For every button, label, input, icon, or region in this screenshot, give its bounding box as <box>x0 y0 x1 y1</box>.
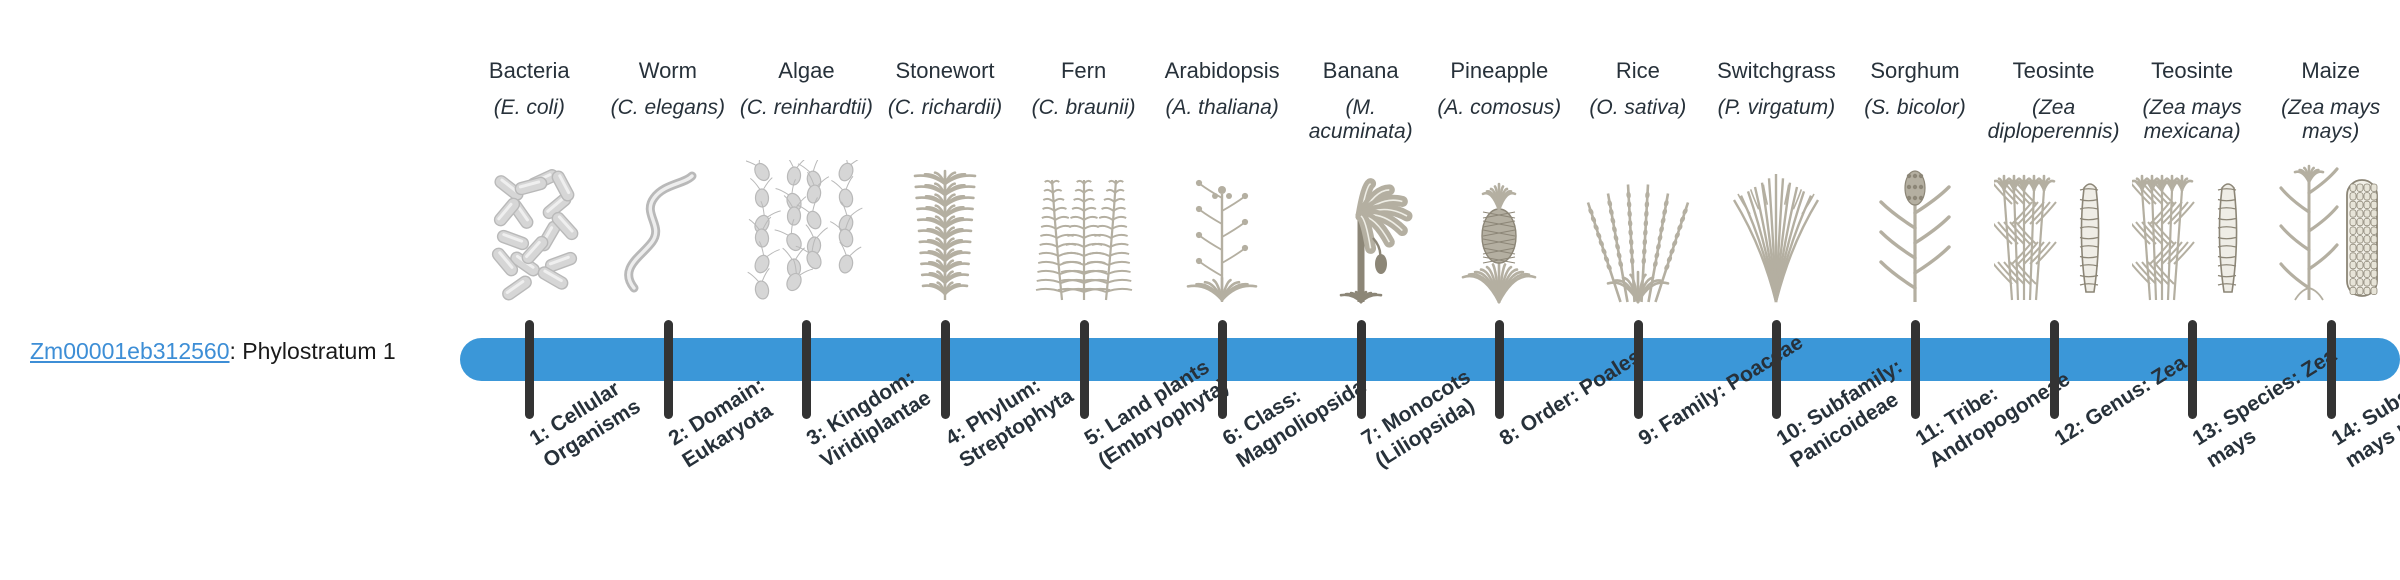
rice-plant-icon <box>1569 160 1707 305</box>
species-scientific-name: (A. thaliana) <box>1153 96 1291 120</box>
banana-plant-icon <box>1292 160 1430 305</box>
species-common-name: Worm <box>599 58 737 83</box>
species-common-name: Algae <box>737 58 875 83</box>
species-common-name: Sorghum <box>1846 58 1984 83</box>
species-scientific-name: (Zea mays mays) <box>2262 96 2400 143</box>
fern-frond-icon <box>1015 160 1153 305</box>
species-scientific-name: (S. bicolor) <box>1846 96 1984 120</box>
species-common-name: Maize <box>2262 58 2400 83</box>
species-scientific-name: (C. elegans) <box>599 96 737 120</box>
teosinte-plant-ear-icon <box>2123 160 2261 305</box>
species-scientific-name: (C. braunii) <box>1015 96 1153 120</box>
species-scientific-name: (C. richardii) <box>876 96 1014 120</box>
phylostratum-tick[interactable] <box>664 320 673 419</box>
species-common-name: Teosinte <box>1985 58 2123 83</box>
teosinte-plant-ear-icon <box>1985 160 2123 305</box>
switchgrass-icon <box>1707 160 1845 305</box>
phylostratum-tick[interactable] <box>1772 320 1781 419</box>
species-common-name: Fern <box>1015 58 1153 83</box>
phylostratum-tick[interactable] <box>941 320 950 419</box>
phylostratum-tick[interactable] <box>525 320 534 419</box>
stonewort-icon <box>876 160 1014 305</box>
species-scientific-name: (E. coli) <box>460 96 598 120</box>
algae-cells-icon <box>737 160 875 305</box>
sorghum-icon <box>1846 160 1984 305</box>
species-common-name: Stonewort <box>876 58 1014 83</box>
species-common-name: Pineapple <box>1430 58 1568 83</box>
phylostratum-tick[interactable] <box>2188 320 2197 419</box>
phylostratum-tick[interactable] <box>1218 320 1227 419</box>
phylostratum-tick[interactable] <box>2050 320 2059 419</box>
species-scientific-name: (A. comosus) <box>1430 96 1568 120</box>
species-scientific-name: (O. sativa) <box>1569 96 1707 120</box>
phylostratum-tick[interactable] <box>1357 320 1366 419</box>
phylostratum-value-label: Phylostratum 1 <box>242 338 395 364</box>
species-common-name: Bacteria <box>460 58 598 83</box>
species-common-name: Arabidopsis <box>1153 58 1291 83</box>
phylogeny-track: Bacteria(E. coli) <box>460 0 2400 580</box>
phylostratum-tick[interactable] <box>1080 320 1089 419</box>
phylostratum-tick[interactable] <box>1911 320 1920 419</box>
species-common-name: Rice <box>1569 58 1707 83</box>
phylostratum-tick[interactable] <box>1634 320 1643 419</box>
phylostratum-tick[interactable] <box>2327 320 2336 419</box>
species-scientific-name: (Zea mays mexicana) <box>2123 96 2261 143</box>
gene-label-separator: : <box>230 338 243 364</box>
species-scientific-name: (M. acuminata) <box>1292 96 1430 143</box>
species-common-name: Banana <box>1292 58 1430 83</box>
species-scientific-name: (Zea diploperennis) <box>1985 96 2123 143</box>
bacteria-rods-icon <box>460 160 598 305</box>
phylostratum-tick[interactable] <box>802 320 811 419</box>
species-scientific-name: (P. virgatum) <box>1707 96 1845 120</box>
species-common-name: Switchgrass <box>1707 58 1845 83</box>
species-common-name: Teosinte <box>2123 58 2261 83</box>
arabidopsis-icon <box>1153 160 1291 305</box>
gene-id-link[interactable]: Zm00001eb312560 <box>30 338 230 364</box>
species-scientific-name: (C. reinhardtii) <box>737 96 875 120</box>
pineapple-icon <box>1430 160 1568 305</box>
gene-phylostratum-label: Zm00001eb312560: Phylostratum 1 <box>30 338 396 366</box>
phylostratum-tick[interactable] <box>1495 320 1504 419</box>
maize-plant-cob-icon <box>2262 160 2400 305</box>
nematode-worm-icon <box>599 160 737 305</box>
